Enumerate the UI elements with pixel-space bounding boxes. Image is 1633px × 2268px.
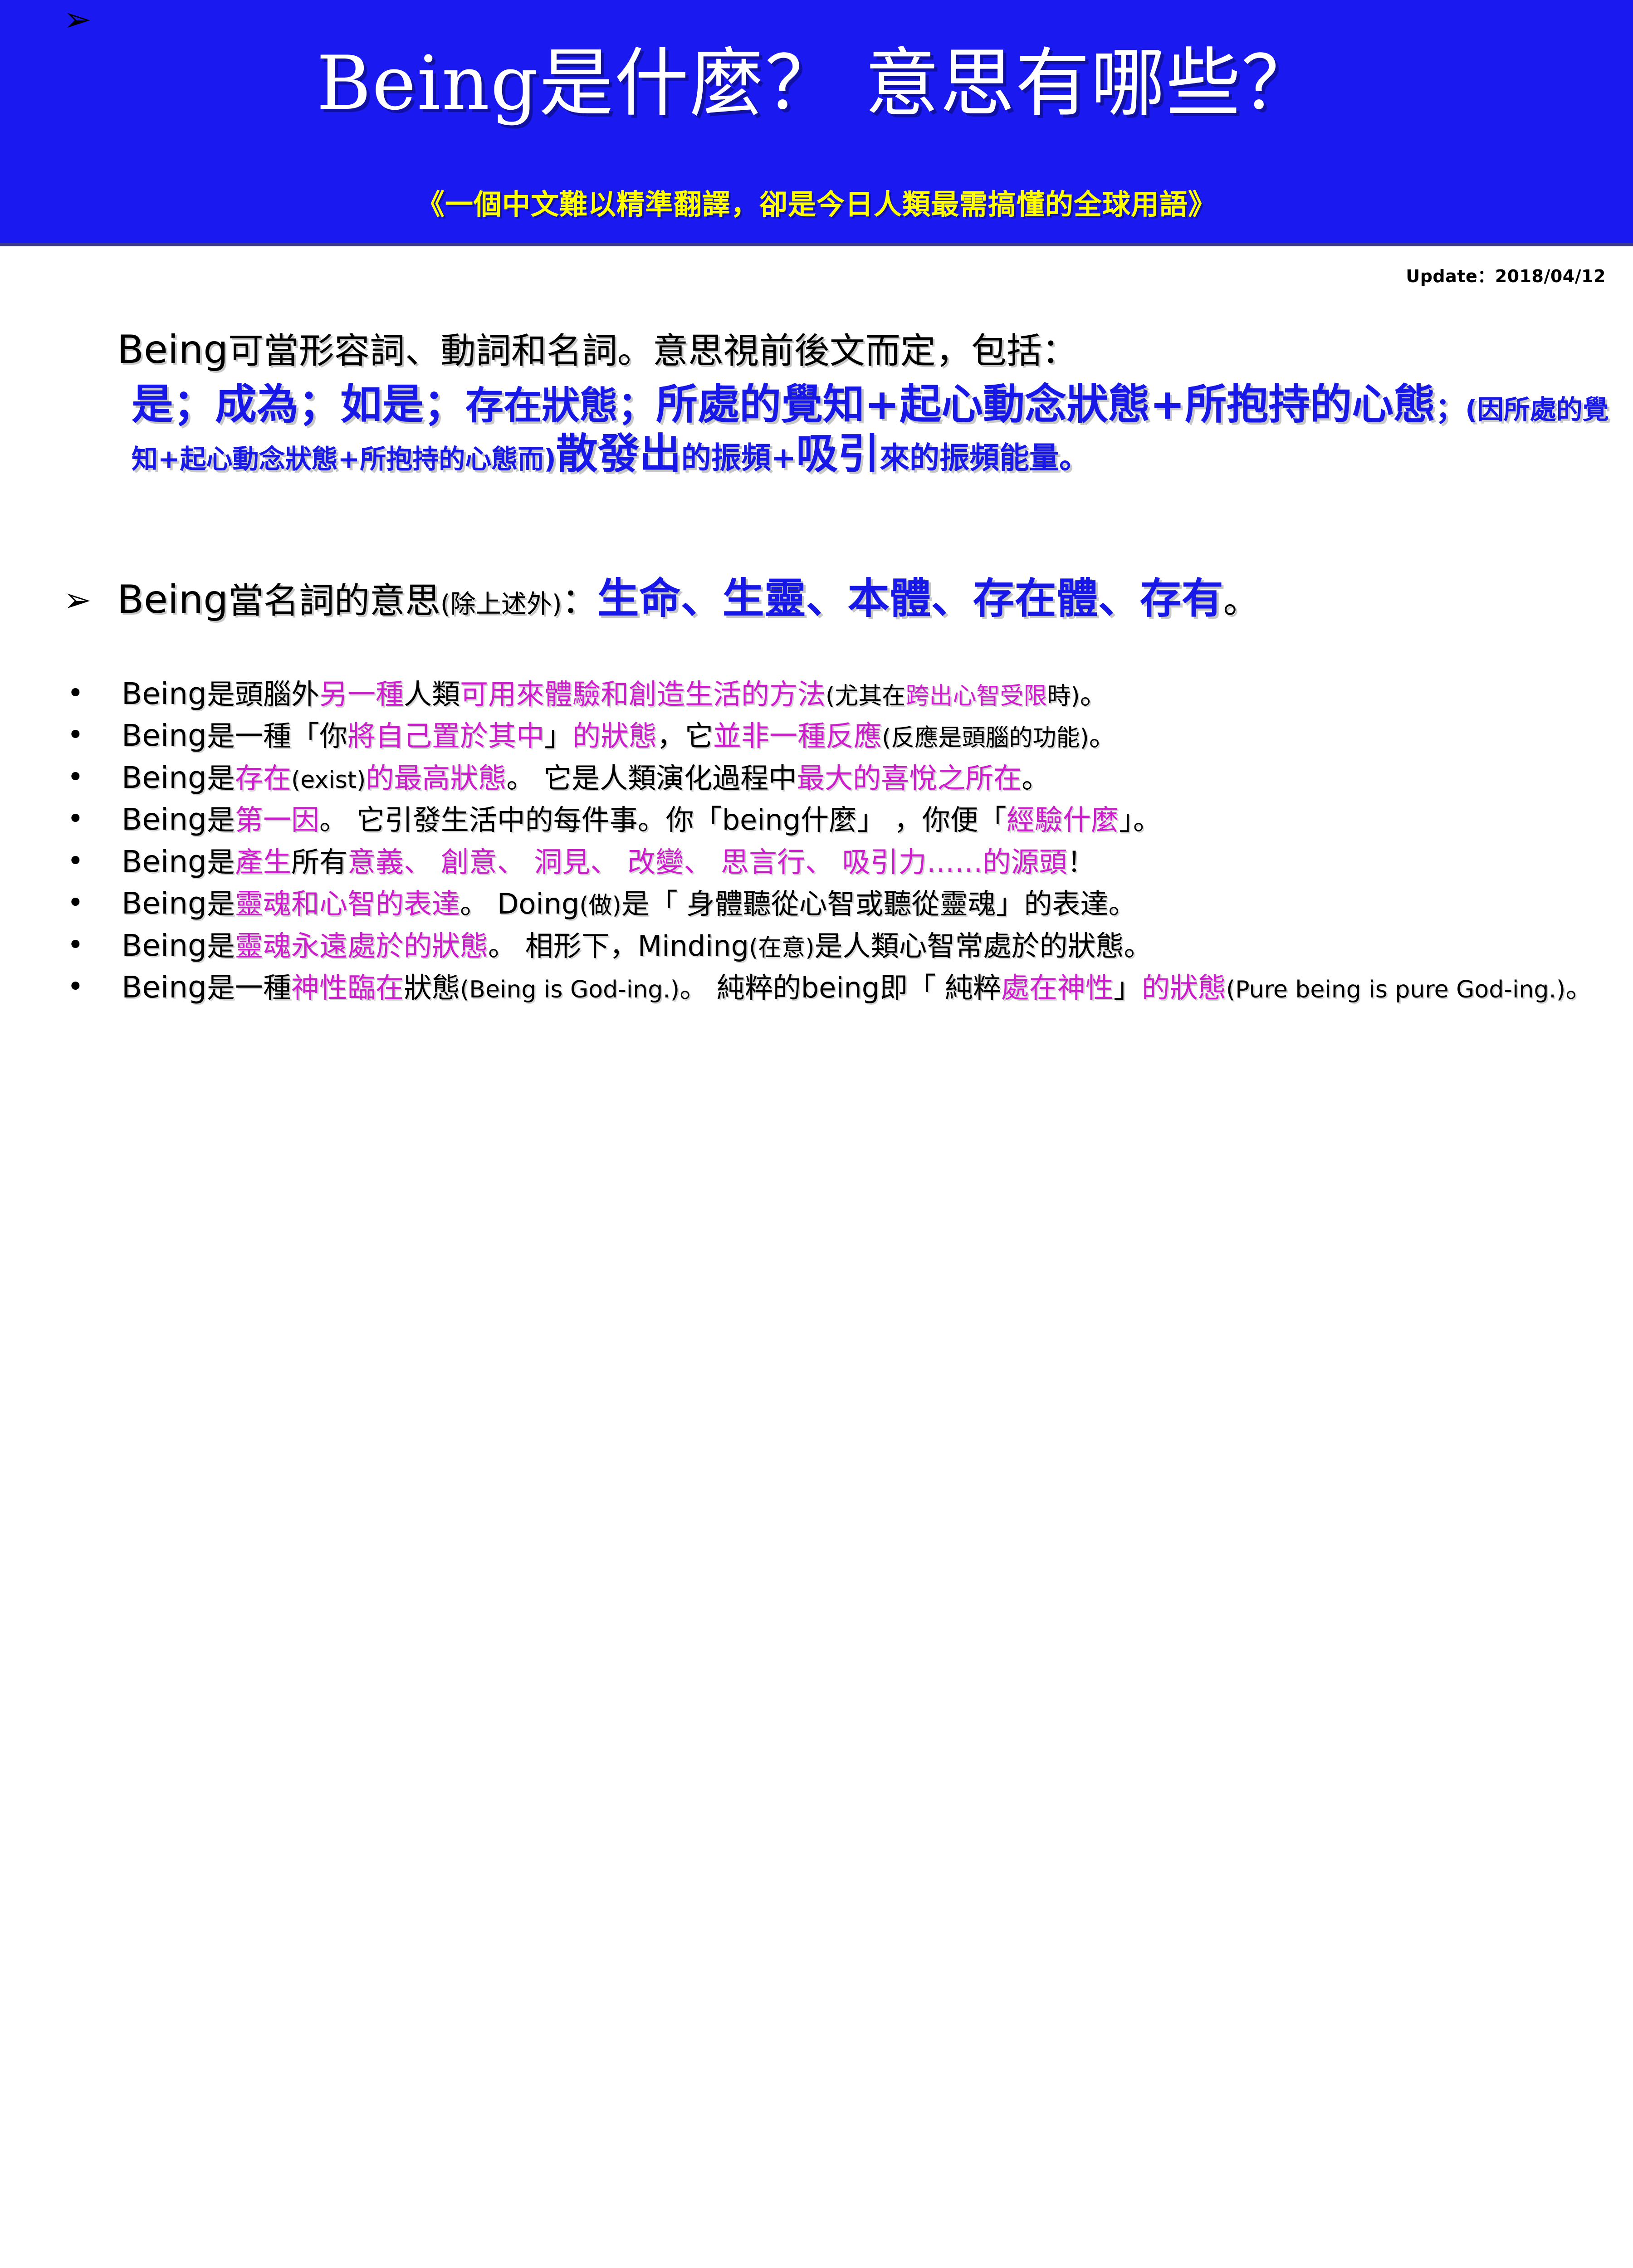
page-title: Being是什麼？ 意思有哪些？ bbox=[0, 44, 1633, 122]
list-item: •Being是靈魂永遠處於的狀態。 相形下，Minding(在意)是人類心智常處… bbox=[0, 926, 1633, 966]
section-2-tail: 。 bbox=[1223, 581, 1259, 621]
bullet-dot-icon: • bbox=[67, 716, 84, 753]
list-item-run-7-1: 是一種 bbox=[207, 971, 291, 1004]
bullet-dot-icon: • bbox=[67, 674, 84, 712]
section-1-heading: Being可當形容詞、動詞和名詞。意思視前後文而定，包括： bbox=[117, 329, 1614, 370]
list-item-run-5-0: Being bbox=[122, 886, 207, 921]
list-item-run-7-4: (Being is God-ing.) bbox=[460, 976, 680, 1003]
list-item-run-2-7: 。 bbox=[1022, 762, 1050, 795]
blue-run-2: ； bbox=[618, 383, 656, 428]
list-item-run-5-3: 。 Doing bbox=[460, 887, 579, 920]
list-item-run-5-5: 是「 身體聽從心智或聽從靈魂」的表達。 bbox=[621, 887, 1137, 920]
list-item-run-3-3: 。 它引發生活中的每件事。你「 bbox=[319, 803, 722, 836]
section-1-blue-definitions: 是；成為；如是；存在狀態；所處的覺知+起心動念狀態+所抱持的心態；(因所處的覺知… bbox=[132, 380, 1624, 479]
list-item-run-0-7: 時) bbox=[1047, 683, 1080, 710]
blue-run-4: ； bbox=[1435, 391, 1465, 426]
list-item-run-2-0: Being bbox=[122, 760, 207, 795]
list-item-run-5-1: 是 bbox=[207, 887, 235, 920]
blue-run-1: 存在狀態 bbox=[465, 383, 618, 428]
list-item-run-0-4: 可用來體驗和創造生活的方法 bbox=[460, 678, 826, 711]
list-item-run-3-7: 」。 bbox=[1119, 803, 1161, 836]
list-item-run-4-5: ！ bbox=[1067, 846, 1095, 879]
list-item-run-4-3: 所有 bbox=[291, 846, 347, 879]
list-item-run-5-2: 靈魂和心智的表達 bbox=[235, 887, 460, 920]
list-item-run-1-0: Being bbox=[122, 718, 207, 753]
slide-footer: 「認識Being：提升意識、擴大覺知的妙訣」系列圖文 Being 必應 創造 擴… bbox=[0, 1139, 1633, 1225]
list-item-run-1-3: 將自己置於其中 bbox=[347, 719, 544, 753]
list-item-run-3-1: 是 bbox=[207, 803, 235, 836]
list-item: •Being是一種神性臨在狀態(Being is God-ing.)。 純粹的b… bbox=[0, 968, 1633, 1007]
list-item-run-7-10: 。 bbox=[1565, 971, 1594, 1004]
section-2-lead-rest: 當名詞的意思 bbox=[228, 581, 440, 621]
list-item-run-7-8: 的狀態 bbox=[1142, 971, 1226, 1004]
list-item: •Being是頭腦外另一種人類可用來體驗和創造生活的方法(尤其在跨出心智受限時)… bbox=[0, 674, 1633, 714]
list-item-run-6-3: 。 相形下，Minding bbox=[488, 929, 749, 963]
list-item-run-7-9: (Pure being is pure God-ing.) bbox=[1226, 976, 1565, 1003]
list-item-run-4-2: 產生 bbox=[235, 846, 291, 879]
list-item-run-7-2: 神性臨在 bbox=[291, 971, 404, 1004]
blue-run-0: 是；成為；如是； bbox=[132, 380, 465, 429]
section-2-blue-terms: 生命、生靈、本體、存在體、存有 bbox=[597, 574, 1223, 623]
list-item-run-1-5: 的狀態 bbox=[572, 719, 657, 753]
list-item-run-7-3: 狀態 bbox=[404, 971, 460, 1004]
arrow-bullet-icon-1: ➢ bbox=[64, 3, 92, 36]
list-item-run-0-1: 是頭腦外 bbox=[207, 678, 319, 711]
list-item-run-3-6: 經驗什麼 bbox=[1007, 803, 1119, 836]
section-2-heading: Being當名詞的意思(除上述外)：生命、生靈、本體、存在體、存有。 bbox=[117, 577, 1623, 621]
list-item-run-2-3: (exist) bbox=[291, 767, 366, 794]
section-2-colon: ： bbox=[562, 581, 597, 621]
bullet-dot-icon: • bbox=[67, 842, 84, 880]
list-item-run-1-8: (反應是頭腦的功能) bbox=[882, 724, 1089, 752]
section-1-lead: Being bbox=[117, 327, 228, 372]
bullet-dot-icon: • bbox=[67, 926, 84, 963]
list-item: •Being是存在(exist)的最高狀態。 它是人類演化過程中最大的喜悅之所在… bbox=[0, 758, 1633, 798]
list-item-run-6-4: (在意) bbox=[749, 934, 815, 962]
slide-header: Being是什麼？ 意思有哪些？ 《一個中文難以精準翻譯，卻是今日人類最需搞懂的… bbox=[0, 0, 1633, 246]
list-item-run-2-5: 。 它是人類演化過程中 bbox=[506, 762, 797, 795]
list-item-run-1-4: 」 bbox=[544, 719, 572, 753]
bullet-dot-icon: • bbox=[67, 968, 84, 1005]
list-item-run-3-0: Being bbox=[122, 802, 207, 837]
list-item-run-2-6: 最大的喜悅之所在 bbox=[797, 762, 1022, 795]
list-item-run-7-6: 處在神性 bbox=[1001, 971, 1114, 1004]
list-item-run-1-6: ，它 bbox=[657, 719, 713, 753]
list-item-run-3-5: 」 ，你便「 bbox=[857, 803, 1007, 836]
list-item-run-5-4: (做) bbox=[579, 892, 621, 919]
list-item-run-7-0: Being bbox=[122, 970, 207, 1005]
blue-run-9: 來的振頻能量 bbox=[880, 440, 1059, 475]
list-item-run-4-4: 意義、 創意、 洞見、 改變、 思言行、 吸引力……的源頭 bbox=[347, 846, 1067, 879]
section-2-paren: (除上述外) bbox=[440, 590, 562, 619]
list-item-run-0-0: Being bbox=[122, 676, 207, 711]
list-item-run-1-7: 並非一種反應 bbox=[713, 719, 882, 753]
update-timestamp: Update：2018/04/12 bbox=[1406, 262, 1606, 287]
list-item-run-0-2: 另一種 bbox=[319, 678, 404, 711]
list-item-run-4-1: 是 bbox=[207, 846, 235, 879]
list-item-run-0-6: 跨出心智受限 bbox=[905, 683, 1047, 710]
list-item-run-3-4: being什麼 bbox=[722, 803, 857, 836]
list-item-run-4-0: Being bbox=[122, 844, 207, 879]
blue-run-8: 吸引 bbox=[796, 430, 880, 478]
page-subtitle: 《一個中文難以精準翻譯，卻是今日人類最需搞懂的全球用語》 bbox=[0, 181, 1633, 222]
blue-run-10: 。 bbox=[1059, 440, 1089, 475]
list-item-run-7-7: 」 bbox=[1114, 971, 1142, 1004]
list-item-run-1-9: 。 bbox=[1089, 719, 1117, 753]
list-item-run-0-3: 人類 bbox=[404, 678, 460, 711]
list-item: •Being是產生所有意義、 創意、 洞見、 改變、 思言行、 吸引力……的源頭… bbox=[0, 842, 1633, 882]
list-item-run-6-5: 是人類心智常處於的狀態。 bbox=[815, 929, 1152, 963]
blue-run-3: 所處的覺知+起心動念狀態+所抱持的心態 bbox=[656, 380, 1435, 429]
list-item-run-0-8: 。 bbox=[1080, 678, 1108, 711]
list-item: •Being是第一因。 它引發生活中的每件事。你「being什麼」 ，你便「經驗… bbox=[0, 800, 1633, 840]
list-item-run-0-5: (尤其在 bbox=[826, 683, 905, 710]
list-item-run-6-1: 是 bbox=[207, 929, 235, 963]
list-item: •Being是一種「你將自己置於其中」的狀態，它並非一種反應(反應是頭腦的功能)… bbox=[0, 716, 1633, 756]
list-item-run-1-1: 是一種「 bbox=[207, 719, 319, 753]
blue-run-6: 散發出 bbox=[556, 430, 681, 478]
bullet-dot-icon: • bbox=[67, 884, 84, 921]
blue-run-7: 的振頻+ bbox=[681, 440, 796, 475]
list-item-run-7-5: 。 純粹的being即「 純粹 bbox=[680, 971, 1001, 1004]
section-1-lead-rest: 可當形容詞、動詞和名詞。意思視前後文而定，包括： bbox=[228, 331, 1077, 371]
list-item-run-1-2: 你 bbox=[319, 719, 347, 753]
section-2-lead: Being bbox=[117, 577, 228, 622]
list-item-run-3-2: 第一因 bbox=[235, 803, 319, 836]
list-item-run-6-2: 靈魂永遠處於的狀態 bbox=[235, 929, 488, 963]
bullet-list: •Being是頭腦外另一種人類可用來體驗和創造生活的方法(尤其在跨出心智受限時)… bbox=[0, 674, 1633, 1010]
list-item-run-2-1: 是 bbox=[207, 762, 235, 795]
list-item-run-2-2: 存在 bbox=[235, 762, 291, 795]
list-item-run-2-4: 的最高狀態 bbox=[366, 762, 506, 795]
arrow-bullet-icon-2: ➢ bbox=[64, 583, 92, 617]
list-item-run-6-0: Being bbox=[122, 928, 207, 963]
bullet-dot-icon: • bbox=[67, 800, 84, 837]
header-divider bbox=[0, 243, 1633, 246]
bullet-dot-icon: • bbox=[67, 758, 84, 796]
list-item: •Being是靈魂和心智的表達。 Doing(做)是「 身體聽從心智或聽從靈魂」… bbox=[0, 884, 1633, 924]
